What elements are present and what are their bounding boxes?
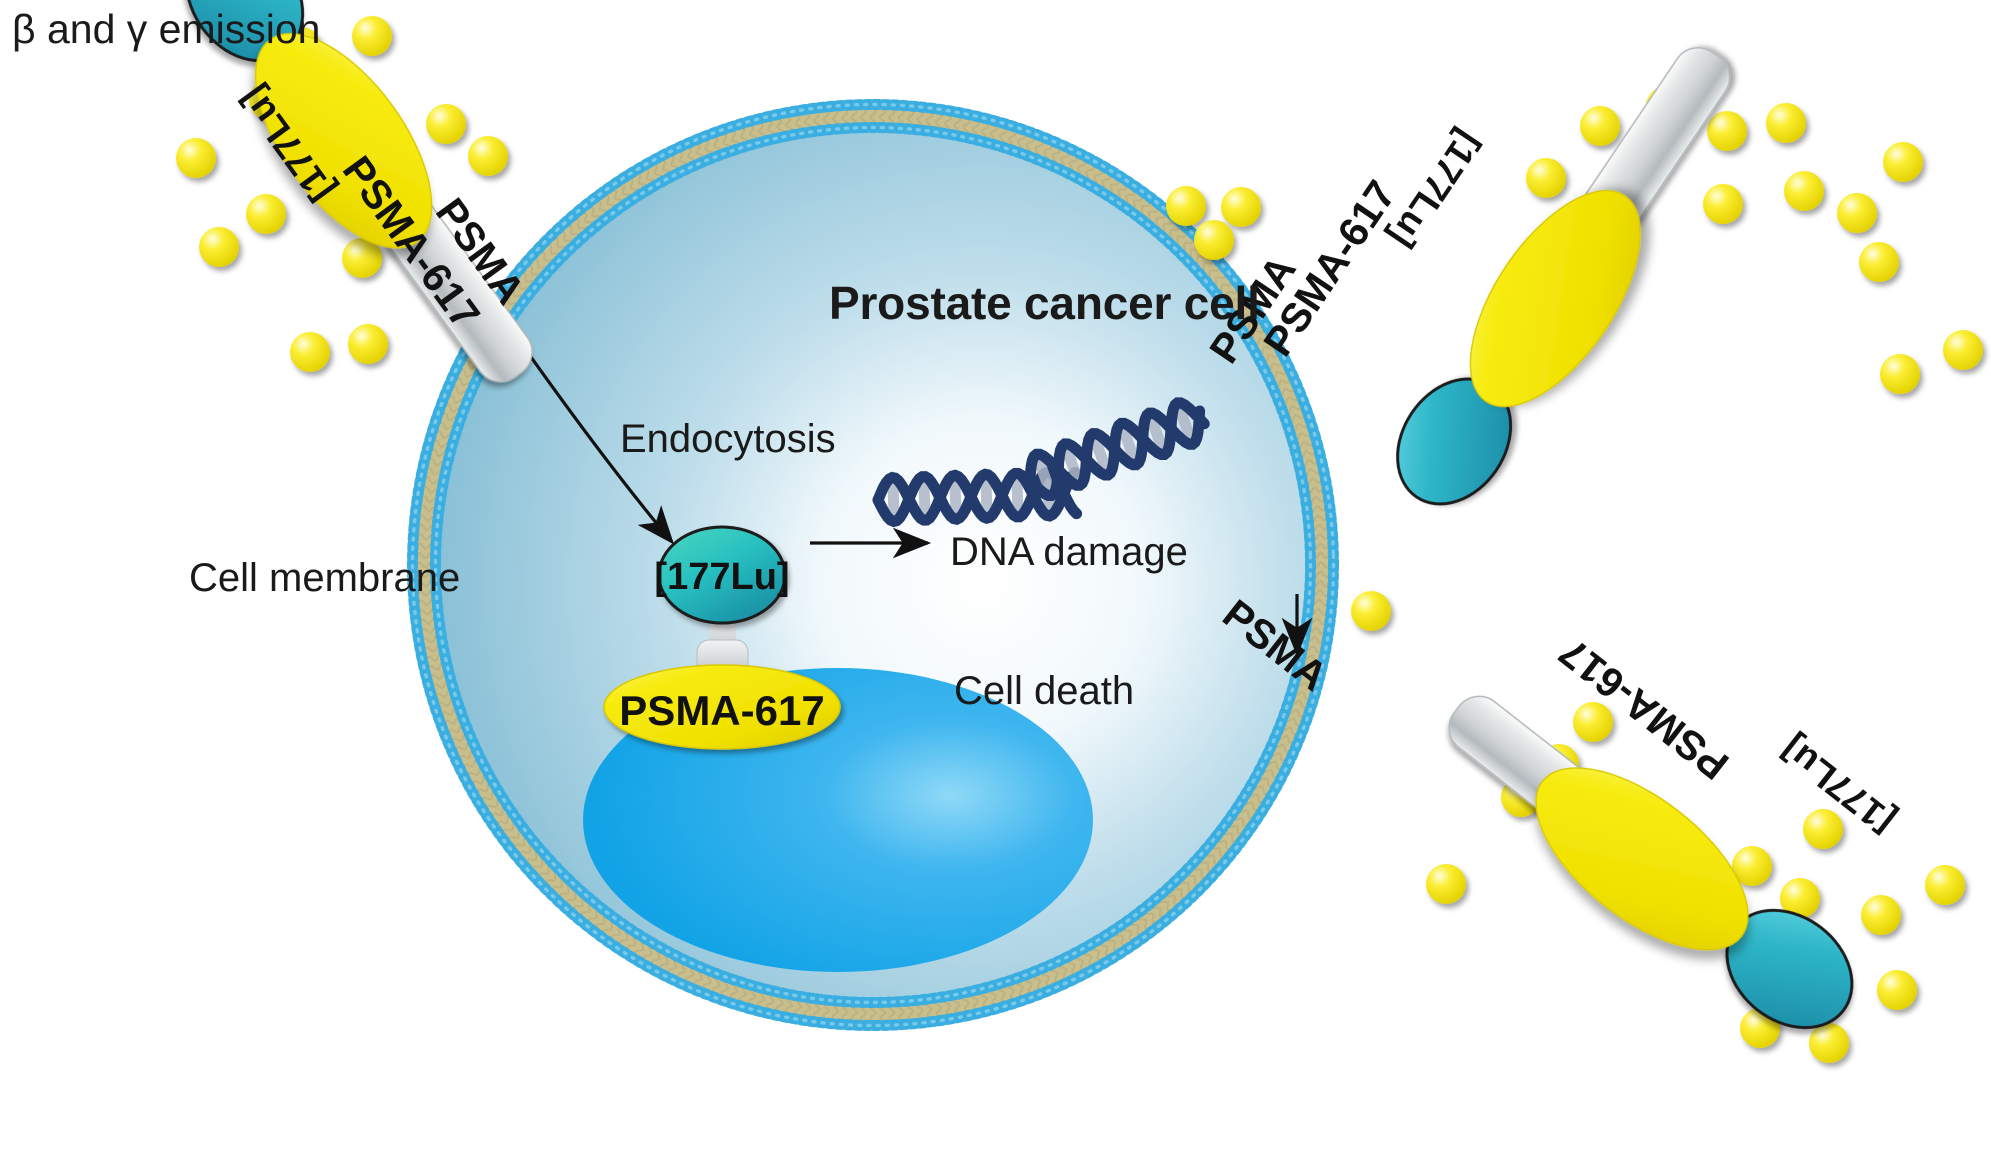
emission-dot [1194,220,1234,260]
emission-label: β and γ emission [12,6,320,53]
endocytosis-label: Endocytosis [620,417,836,462]
emission-dot [1803,809,1843,849]
emission-dot [1221,187,1261,227]
emission-dot [1861,895,1901,935]
emission-dot [1573,702,1613,742]
complex-top-right[interactable] [1371,24,1767,533]
emission-dot [1880,354,1920,394]
radionuclide-oval[interactable] [659,527,785,623]
emission-dot [348,324,388,364]
emission-dot [1703,184,1743,224]
emission-dot [426,104,466,144]
emission-dot [1426,864,1466,904]
emission-dot [199,227,239,267]
emission-dot [468,136,508,176]
complex-bottom-right[interactable] [1418,665,1878,1061]
emission-dot [1859,242,1899,282]
emission-dot [1809,1023,1849,1063]
page-title: Prostate cancer cell [829,276,1260,330]
emission-dot [1580,106,1620,146]
emission-dot [1784,171,1824,211]
cell-death-label: Cell death [954,669,1134,714]
emission-dot [1766,103,1806,143]
emission-dot [176,138,216,178]
dna-damage-label: DNA damage [950,530,1188,575]
emission-dot [1837,193,1877,233]
emission-dot [1166,186,1206,226]
emission-dot [1883,142,1923,182]
emission-dot [246,194,286,234]
emission-dot [1351,591,1391,631]
emission-dot [352,16,392,56]
cell-membrane-label: Cell membrane [189,556,460,601]
figure-canvas: [177Lu] PSMA-617 PSMA [177Lu] PSMA-617 P… [0,0,1991,1156]
emission-dot [1925,865,1965,905]
emission-dot [1526,158,1566,198]
emission-dot [1877,970,1917,1010]
emission-dot [290,332,330,372]
emission-dot [1707,111,1747,151]
ligand-oval[interactable] [604,665,840,749]
emission-dot [1943,330,1983,370]
